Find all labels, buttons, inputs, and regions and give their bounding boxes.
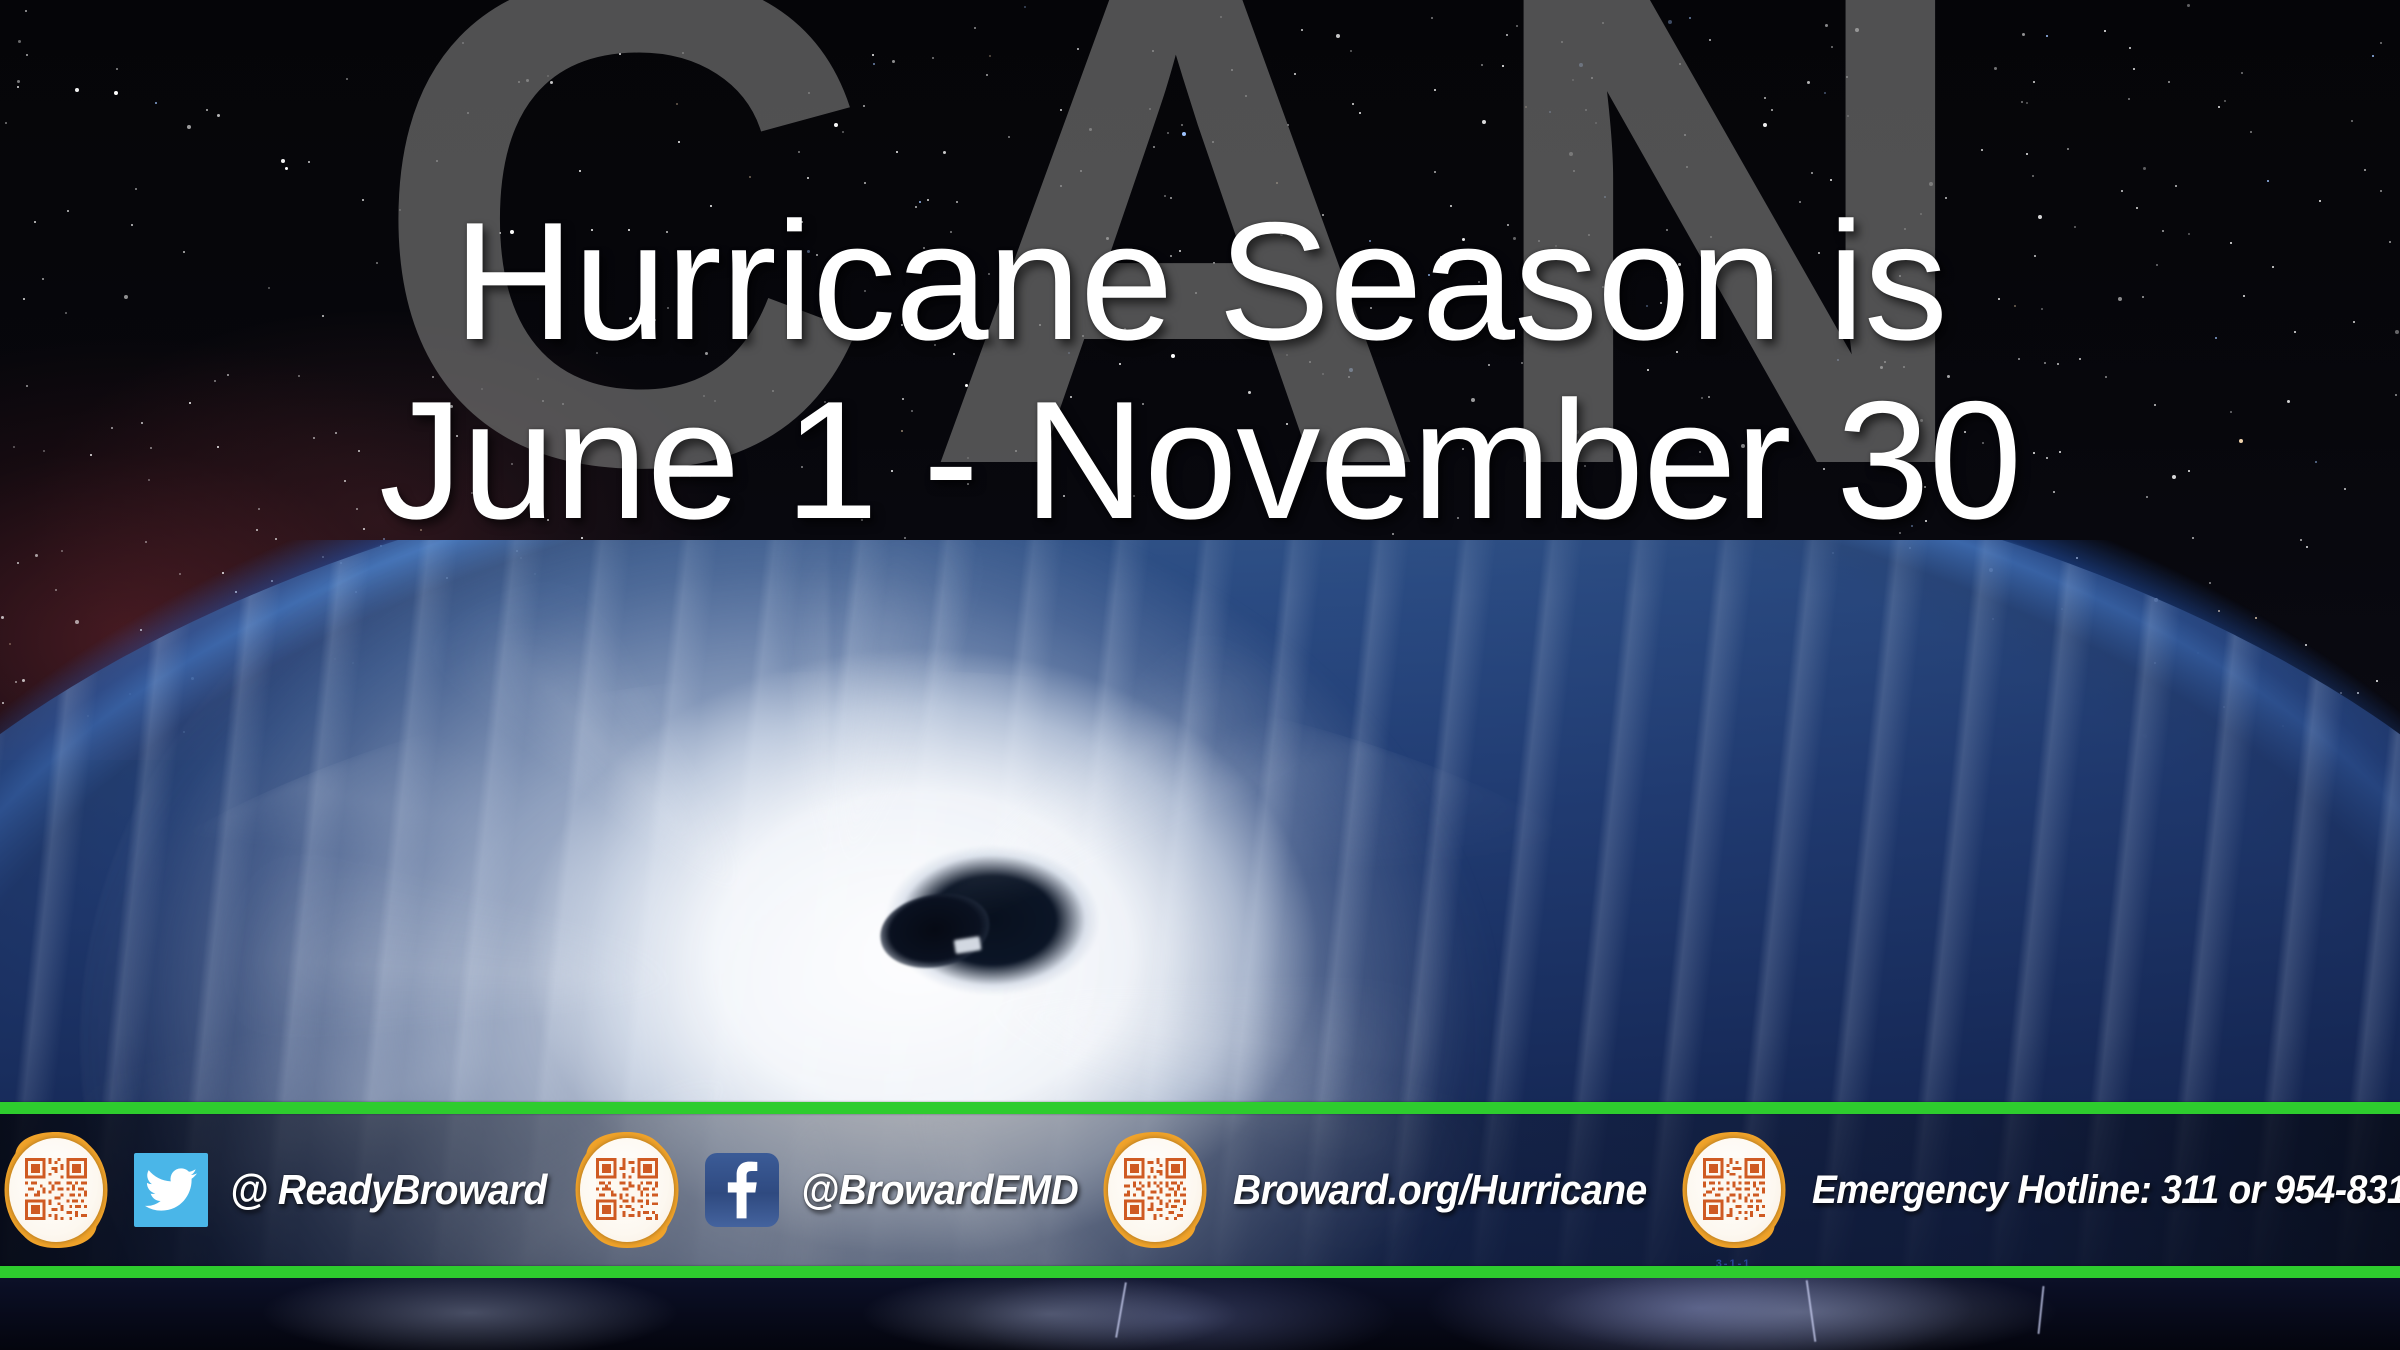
qr-code-browardemd-badge[interactable]	[571, 1126, 683, 1254]
footer-rule-bottom	[0, 1266, 2400, 1278]
night-earth-strip	[0, 1278, 2400, 1350]
twitter-handle-label: @ ReadyBroward	[230, 1166, 547, 1214]
footer-item-hotline[interactable]: 3-1-1 Emergency Hotline: 311 or 954-831-…	[1678, 1114, 2400, 1266]
headline-line-2: June 1 - November 30	[0, 375, 2400, 546]
headline-line-1: Hurricane Season is	[0, 196, 2400, 367]
qr-code-icon	[1703, 1158, 1765, 1220]
facebook-handle-label: @BrowardEMD	[801, 1166, 1078, 1214]
qr-code-icon	[1124, 1158, 1186, 1220]
footer-contact-list: @ ReadyBroward	[0, 1114, 2400, 1266]
qr-code-icon	[596, 1158, 658, 1220]
qr-code-readybroward-badge[interactable]	[0, 1126, 112, 1254]
qr-code-broward-hurricane-badge[interactable]	[1099, 1126, 1211, 1254]
qr-code-icon	[25, 1158, 87, 1220]
twitter-bird-glyph	[145, 1168, 197, 1212]
facebook-f-glyph	[725, 1161, 759, 1219]
footer-rule-top	[0, 1102, 2400, 1114]
website-url-label: Broward.org/Hurricane	[1233, 1166, 1647, 1214]
qr-code-311-badge[interactable]: 3-1-1	[1678, 1126, 1790, 1254]
night-cloud	[860, 1278, 1240, 1350]
footer-item-twitter[interactable]: @ ReadyBroward	[0, 1114, 571, 1266]
hotline-label: Emergency Hotline: 311 or 954-831-4000	[1812, 1168, 2400, 1213]
footer-item-website[interactable]: Broward.org/Hurricane	[1099, 1114, 1678, 1266]
hurricane-season-slide: CAN Hurricane Season is June 1 - Novembe…	[0, 0, 2400, 1350]
twitter-bird-icon[interactable]	[134, 1153, 208, 1227]
page-title: Hurricane Season is June 1 - November 30	[0, 196, 2400, 547]
night-cloud	[260, 1278, 680, 1350]
footer-item-facebook[interactable]: @BrowardEMD	[571, 1114, 1099, 1266]
facebook-f-icon[interactable]	[705, 1153, 779, 1227]
night-cloud	[1540, 1278, 2060, 1350]
